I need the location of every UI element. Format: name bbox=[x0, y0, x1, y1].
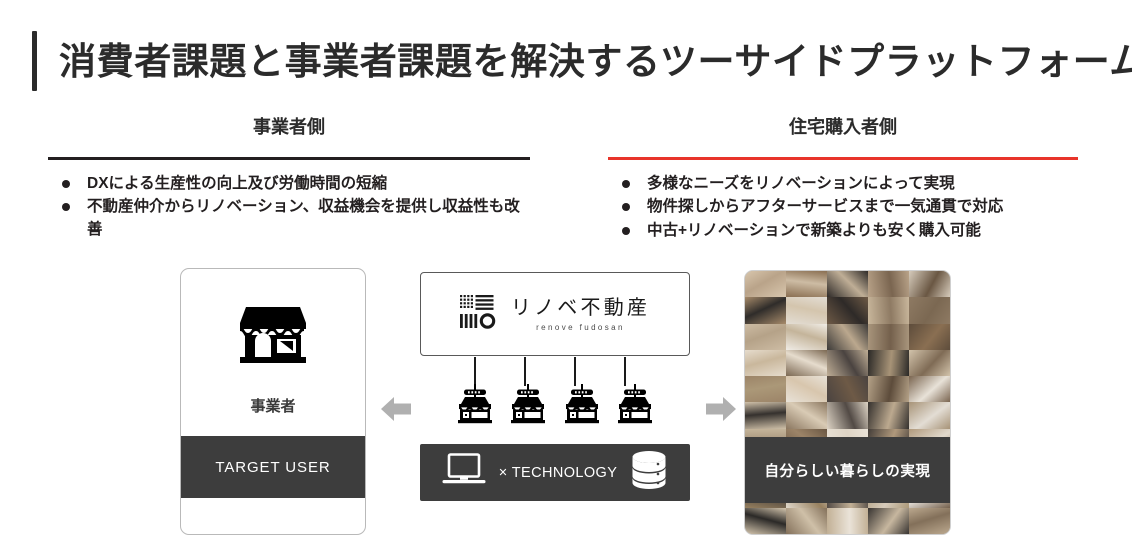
shop-icon bbox=[562, 384, 602, 429]
collage-tile bbox=[868, 297, 909, 323]
laptop-icon bbox=[442, 453, 486, 492]
collage-tile bbox=[786, 376, 827, 402]
collage-tile bbox=[745, 324, 786, 350]
technology-bar: × TECHNOLOGY bbox=[420, 444, 690, 501]
connector-line bbox=[474, 357, 476, 386]
platform-diagram: 事業者 TARGET USER bbox=[0, 0, 1132, 555]
collage-tile bbox=[868, 324, 909, 350]
collage-tile bbox=[745, 271, 786, 297]
collage-tile bbox=[827, 376, 868, 402]
collage-tile bbox=[827, 508, 868, 534]
collage-tile bbox=[827, 324, 868, 350]
connector-line bbox=[574, 357, 576, 386]
collage-tile bbox=[827, 297, 868, 323]
renove-fudosan-logomark-icon bbox=[460, 295, 496, 334]
collage-tile bbox=[745, 508, 786, 534]
connector-line bbox=[624, 357, 626, 386]
connector-line bbox=[524, 357, 526, 386]
collage-tile bbox=[909, 271, 950, 297]
collage-tile bbox=[745, 402, 786, 428]
collage-tile bbox=[909, 350, 950, 376]
collage-tile bbox=[827, 271, 868, 297]
target-user-card: 事業者 TARGET USER bbox=[180, 268, 366, 535]
shop-icon-row bbox=[455, 384, 655, 429]
collage-tile bbox=[786, 271, 827, 297]
brand-name-jp: リノベ不動産 bbox=[511, 297, 650, 319]
storefront-icon bbox=[181, 303, 365, 370]
collage-tile bbox=[786, 402, 827, 428]
lifestyle-band: 自分らしい暮らしの実現 bbox=[745, 437, 950, 503]
collage-tile bbox=[745, 376, 786, 402]
arrow-right-icon bbox=[704, 392, 738, 426]
collage-tile bbox=[868, 350, 909, 376]
brand-name-en: renove fudosan bbox=[536, 323, 625, 332]
collage-tile bbox=[868, 508, 909, 534]
target-user-band: TARGET USER bbox=[181, 436, 365, 498]
database-icon bbox=[630, 450, 668, 495]
shop-icon bbox=[615, 384, 655, 429]
brand-logo-box: リノベ不動産 renove fudosan bbox=[420, 272, 690, 356]
collage-tile bbox=[868, 402, 909, 428]
collage-tile bbox=[909, 324, 950, 350]
collage-tile bbox=[786, 297, 827, 323]
collage-tile bbox=[868, 376, 909, 402]
collage-tile bbox=[786, 508, 827, 534]
slide-root: 消費者課題と事業者課題を解決するツーサイドプラットフォーム 事業者側 DXによる… bbox=[0, 0, 1132, 555]
collage-tile bbox=[786, 350, 827, 376]
collage-tile bbox=[909, 402, 950, 428]
collage-tile bbox=[868, 271, 909, 297]
target-user-caption: 事業者 bbox=[181, 395, 365, 416]
collage-tile bbox=[786, 324, 827, 350]
collage-tile bbox=[745, 350, 786, 376]
collage-tile bbox=[745, 297, 786, 323]
technology-label: × TECHNOLOGY bbox=[499, 465, 618, 481]
collage-tile bbox=[909, 508, 950, 534]
shop-icon bbox=[508, 384, 548, 429]
collage-tile bbox=[909, 297, 950, 323]
collage-tile bbox=[827, 350, 868, 376]
collage-tile bbox=[827, 402, 868, 428]
shop-icon bbox=[455, 384, 495, 429]
arrow-left-icon bbox=[379, 392, 413, 426]
collage-tile bbox=[909, 376, 950, 402]
lifestyle-photo-card: 自分らしい暮らしの実現 bbox=[744, 270, 951, 535]
